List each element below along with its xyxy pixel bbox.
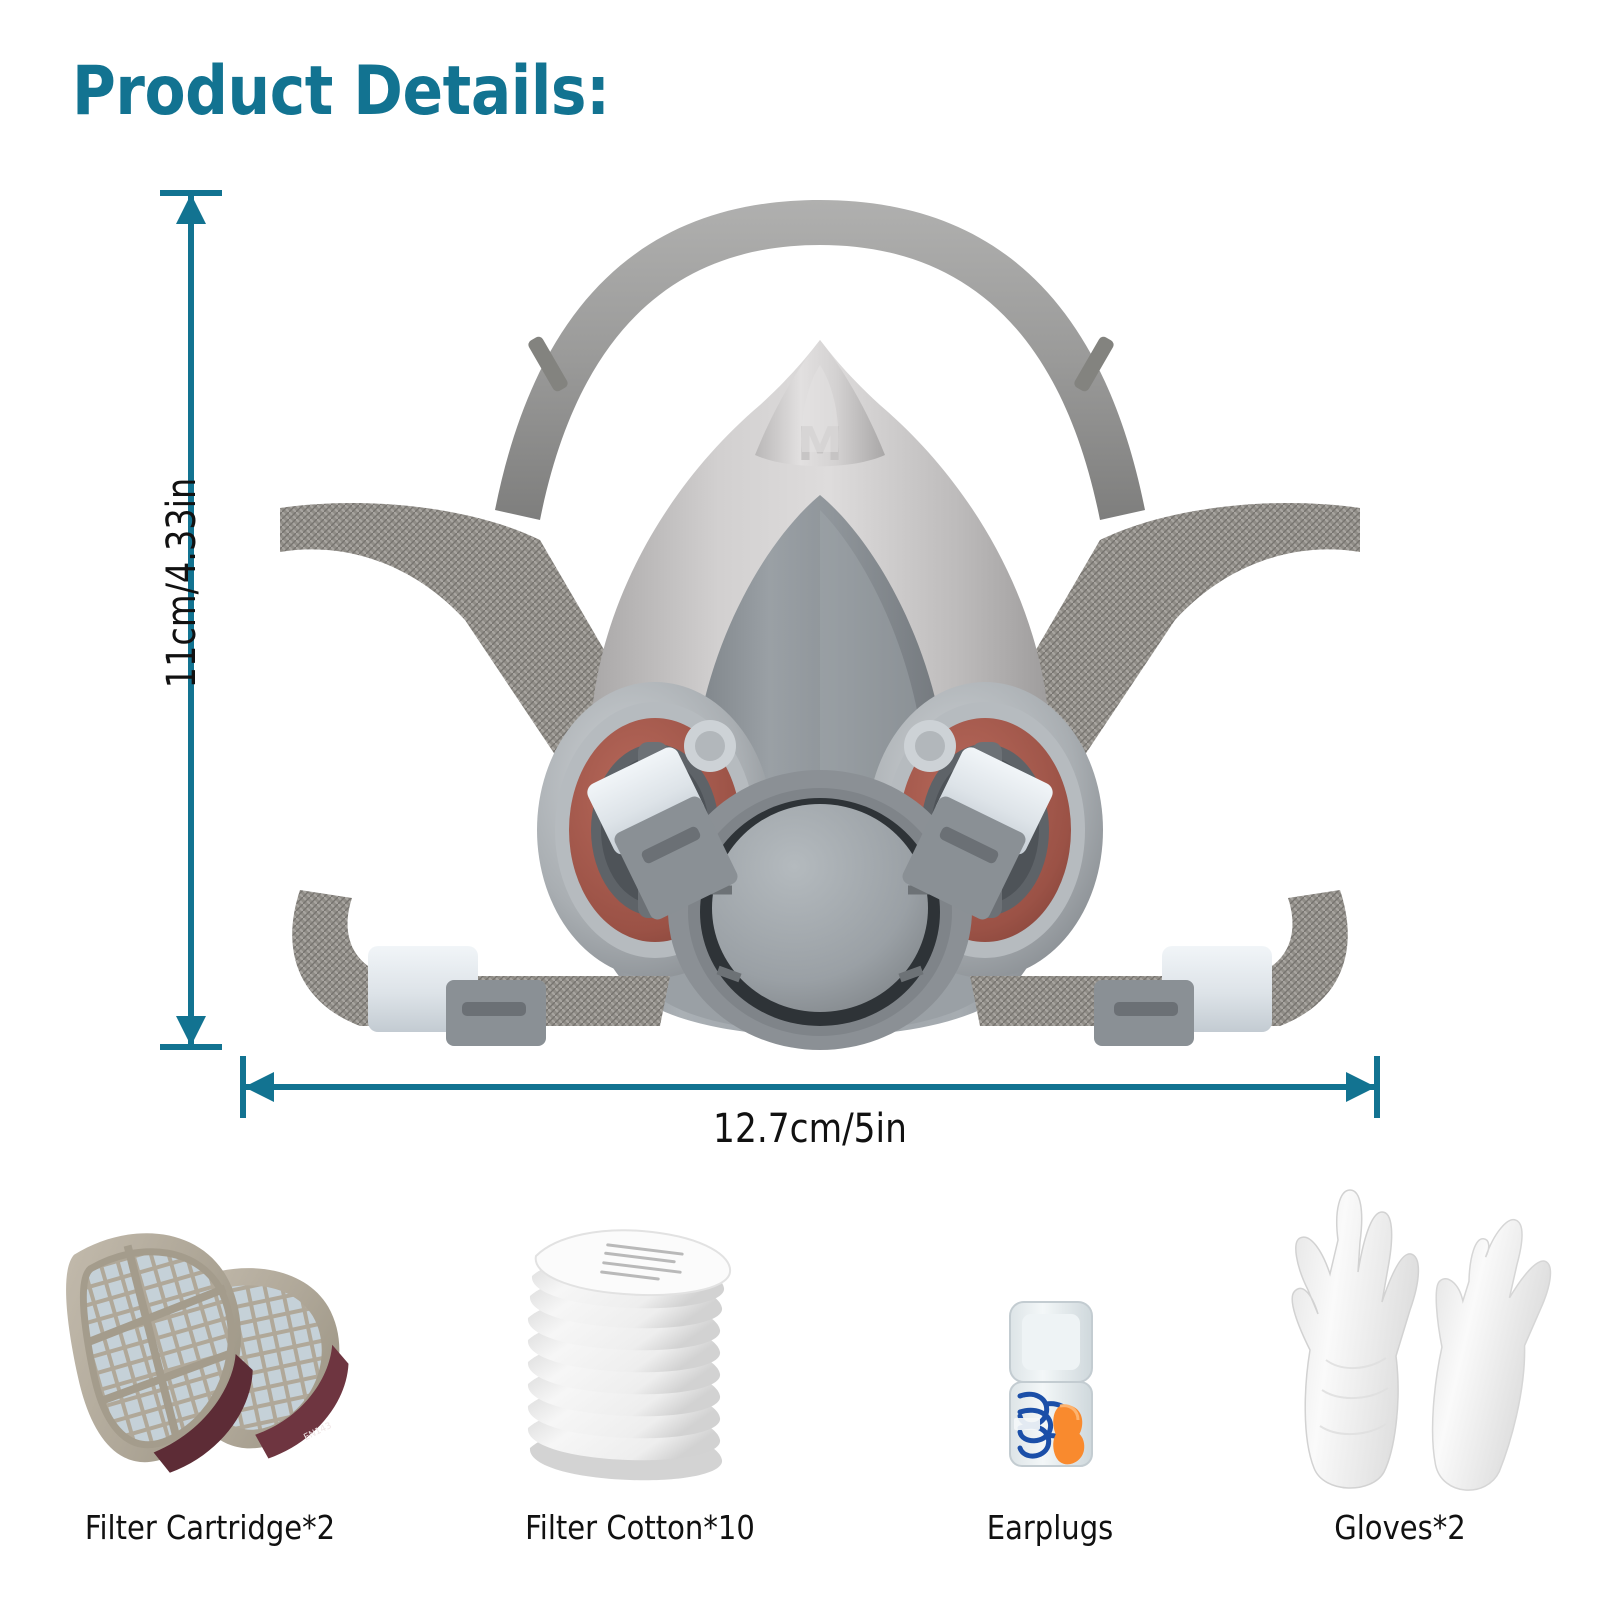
arrow-down-icon [176, 1016, 206, 1046]
accessory-filter-cotton: Filter Cotton*10 [470, 1180, 810, 1600]
accessory-earplugs-image [900, 1180, 1200, 1500]
accessory-earplugs: Earplugs [900, 1180, 1200, 1600]
accessory-filter-cotton-label: Filter Cotton*10 [490, 1508, 789, 1547]
dimension-height: 11cm/4.33in [150, 190, 230, 1050]
accessory-gloves-image [1230, 1180, 1570, 1500]
buckle-lower-right [1094, 946, 1272, 1046]
accessory-filter-cartridge: EN143 Filter Cartridge*2 [40, 1180, 380, 1600]
arrow-up-icon [176, 194, 206, 224]
page-title: Product Details: [72, 52, 610, 131]
filter-pad-stack [528, 1230, 730, 1480]
dimension-width-line [246, 1084, 1374, 1090]
arrow-left-icon [244, 1072, 274, 1102]
accessory-filter-cotton-image [470, 1180, 810, 1500]
glove-front [1292, 1190, 1418, 1488]
accessory-earplugs-label: Earplugs [918, 1508, 1182, 1547]
accessories-row: EN143 Filter Cartridge*2 [0, 1180, 1600, 1600]
earplug-foam [1053, 1405, 1084, 1464]
product-image-respirator-mask: M [240, 190, 1400, 1050]
accessory-gloves: Gloves*2 [1230, 1180, 1570, 1600]
arrow-right-icon [1346, 1072, 1376, 1102]
glove-back [1416, 1212, 1556, 1496]
buckle-lower-left [368, 946, 546, 1046]
dimension-height-label: 11cm/4.33in [159, 457, 205, 709]
earplug-case [1010, 1302, 1092, 1466]
dimension-width-label: 12.7cm/5in [320, 1106, 1300, 1152]
dimension-width: 12.7cm/5in [240, 1048, 1380, 1148]
accessory-filter-cartridge-label: Filter Cartridge*2 [60, 1508, 359, 1547]
accessory-gloves-label: Gloves*2 [1250, 1508, 1549, 1547]
accessory-filter-cartridge-image: EN143 [40, 1180, 380, 1500]
exhalation-valve-cover [668, 770, 972, 1050]
